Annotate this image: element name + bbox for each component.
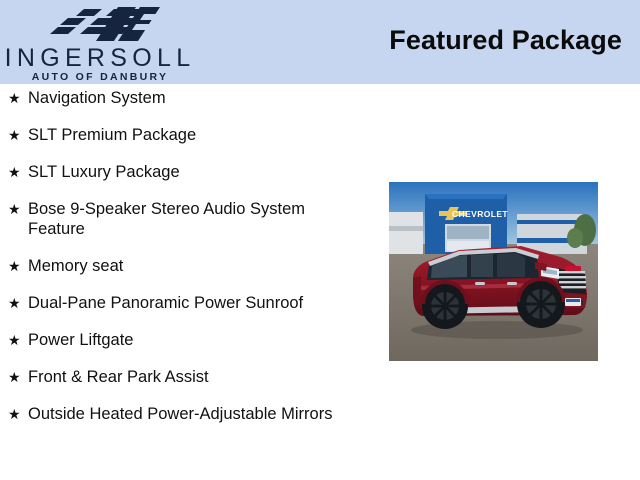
- list-item-label: Dual-Pane Panoramic Power Sunroof: [28, 293, 358, 313]
- star-icon: ★: [8, 404, 21, 424]
- star-icon: ★: [8, 88, 21, 108]
- list-item-label: Front & Rear Park Assist: [28, 367, 358, 387]
- list-item: ★ Front & Rear Park Assist: [0, 367, 358, 387]
- list-item: ★ SLT Luxury Package: [0, 162, 358, 182]
- star-icon: ★: [8, 367, 21, 387]
- list-item: ★ Outside Heated Power-Adjustable Mirror…: [0, 404, 358, 424]
- list-item: ★ Dual-Pane Panoramic Power Sunroof: [0, 293, 358, 313]
- list-item-label: Power Liftgate: [28, 330, 358, 350]
- dealer-name: INGERSOLL: [0, 46, 200, 71]
- dealer-logo: INGERSOLL AUTO OF DANBURY: [0, 2, 200, 82]
- vehicle-photo: CHEVROLET: [389, 182, 598, 361]
- star-icon: ★: [8, 256, 21, 276]
- star-icon: ★: [8, 125, 21, 145]
- list-item: ★ Power Liftgate: [0, 330, 358, 350]
- list-item: ★ Memory seat: [0, 256, 358, 276]
- list-item-label: SLT Premium Package: [28, 125, 358, 145]
- list-item-label: Navigation System: [28, 88, 358, 108]
- ingersoll-winged-emblem-icon: [44, 5, 172, 43]
- star-icon: ★: [8, 199, 21, 219]
- list-item-label: SLT Luxury Package: [28, 162, 358, 182]
- dealer-tagline: AUTO OF DANBURY: [0, 72, 200, 83]
- list-item-label: Memory seat: [28, 256, 358, 276]
- star-icon: ★: [8, 293, 21, 313]
- list-item: ★ Navigation System: [0, 88, 358, 108]
- page-title: Featured Package: [389, 26, 622, 54]
- featured-package-list: ★ Navigation System ★ SLT Premium Packag…: [0, 88, 380, 441]
- list-item: ★ SLT Premium Package: [0, 125, 358, 145]
- star-icon: ★: [8, 162, 21, 182]
- list-item-label: Bose 9-Speaker Stereo Audio System Featu…: [28, 199, 358, 239]
- list-item: ★ Bose 9-Speaker Stereo Audio System Fea…: [0, 199, 358, 239]
- header-band: INGERSOLL AUTO OF DANBURY Featured Packa…: [0, 0, 640, 84]
- svg-text:CHEVROLET: CHEVROLET: [452, 209, 508, 219]
- list-item-label: Outside Heated Power-Adjustable Mirrors: [28, 404, 358, 424]
- star-icon: ★: [8, 330, 21, 350]
